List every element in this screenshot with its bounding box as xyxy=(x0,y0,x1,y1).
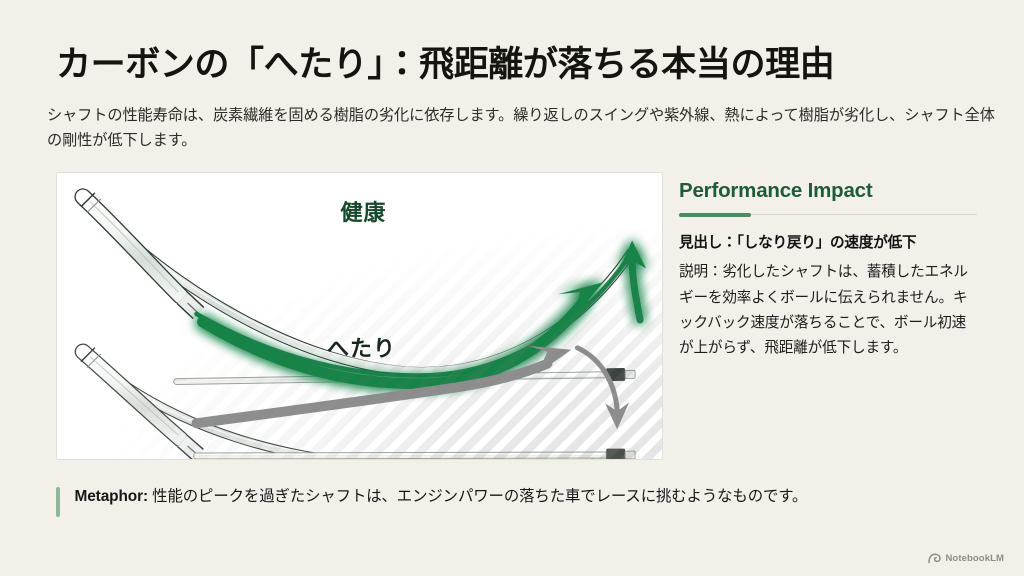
metaphor-accent-bar xyxy=(56,487,60,517)
notebooklm-watermark: NotebookLM xyxy=(928,553,1004,564)
notebooklm-logo-icon xyxy=(928,553,941,564)
performance-body-text: 説明：劣化したシャフトは、蓄積したエネルギーを効率よくボールに伝えられません。キ… xyxy=(679,260,979,360)
page-subtitle: シャフトの性能寿命は、炭素繊維を固める樹脂の劣化に依存します。繰り返しのスイング… xyxy=(47,104,997,153)
page-title: カーボンの「へたり」：飛距離が落ちる本当の理由 xyxy=(56,45,834,85)
healthy-release-arrow xyxy=(619,241,646,320)
heading-underline xyxy=(679,213,977,217)
label-healthy: 健康 xyxy=(57,195,662,227)
metaphor-callout: Metaphor: 性能のピークを過ぎたシャフトは、エンジンパワーの落ちた車でレ… xyxy=(56,486,807,517)
watermark-text: NotebookLM xyxy=(945,553,1004,564)
illustration-panel: 健康 へたり xyxy=(56,172,663,460)
slide-root: カーボンの「へたり」：飛距離が落ちる本当の理由 シャフトの性能寿命は、炭素繊維を… xyxy=(0,0,1024,576)
metaphor-text: Metaphor: 性能のピークを過ぎたシャフトは、エンジンパワーの落ちた車でレ… xyxy=(75,486,808,508)
underline-accent xyxy=(679,213,751,217)
metaphor-body: 性能のピークを過ぎたシャフトは、エンジンパワーの落ちた車でレースに挑むようなもの… xyxy=(148,488,807,505)
performance-impact-heading: Performance Impact xyxy=(679,180,979,203)
performance-impact-section: Performance Impact 見出し：「しなり戻り」の速度が低下 説明：… xyxy=(679,180,979,361)
performance-lead-text: 見出し：「しなり戻り」の速度が低下 xyxy=(679,233,979,255)
metaphor-label: Metaphor: xyxy=(75,488,148,505)
label-fatigue: へたり xyxy=(57,331,662,363)
